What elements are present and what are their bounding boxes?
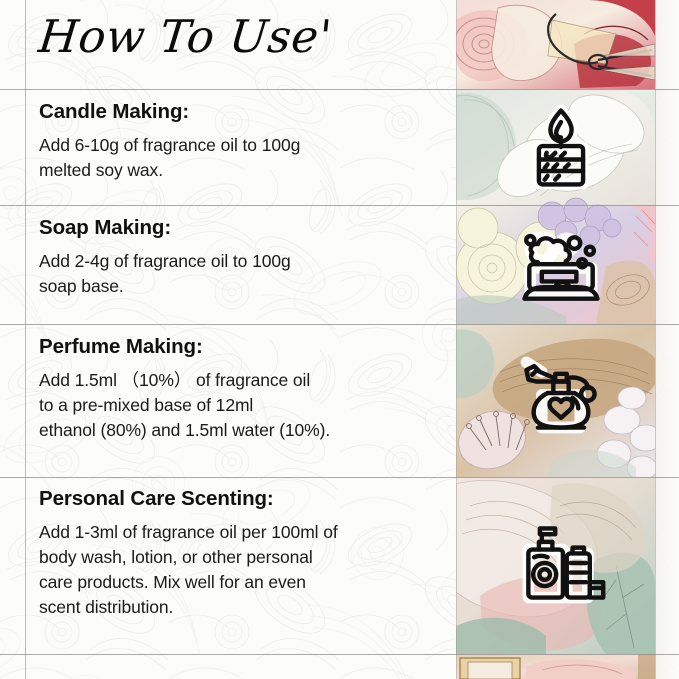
section-soap-making: Soap Making: Add 2-4g of fragrance oil t… [25, 216, 456, 299]
section-body-soap: Add 2-4g of fragrance oil to 100g soap b… [39, 249, 456, 299]
vertical-rule-right [655, 0, 656, 679]
perfume-bottle-icon [513, 345, 609, 441]
section-body-personal-care: Add 1-3ml of fragrance oil per 100ml of … [39, 520, 456, 619]
body-line: care products. Mix well for an even [39, 570, 456, 595]
section-candle-making: Candle Making: Add 6-10g of fragrance oi… [25, 100, 456, 183]
divider-rule-3 [0, 324, 679, 325]
title-band: How To Use' [25, 0, 456, 89]
section-personal-care-scenting: Personal Care Scenting: Add 1-3ml of fra… [25, 487, 456, 619]
divider-rule-2 [0, 205, 679, 206]
divider-rule-4 [0, 477, 679, 478]
section-heading-personal-care: Personal Care Scenting: [39, 487, 456, 511]
section-heading-soap: Soap Making: [39, 216, 456, 240]
vertical-rule-photo-edge [456, 0, 457, 679]
section-body-candle: Add 6-10g of fragrance oil to 100g melte… [39, 133, 456, 183]
body-line: Add 1.5ml （10%） of fragrance oil [39, 368, 456, 393]
divider-rule-1 [0, 89, 679, 90]
infographic-page: How To Use' Candle Making: Add 6-10g of … [0, 0, 679, 679]
section-heading-candle: Candle Making: [39, 100, 456, 124]
candle-icon [513, 99, 609, 195]
body-line: Add 1-3ml of fragrance oil per 100ml of [39, 520, 456, 545]
body-line: Add 6-10g of fragrance oil to 100g [39, 133, 456, 158]
photo-right-fade [655, 0, 679, 679]
body-line: scent distribution. [39, 595, 456, 620]
body-line: melted soy wax. [39, 158, 456, 183]
body-line: soap base. [39, 274, 456, 299]
cosmetic-products-icon [513, 515, 609, 611]
body-line: Add 2-4g of fragrance oil to 100g [39, 249, 456, 274]
divider-rule-5 [0, 654, 679, 655]
section-body-perfume: Add 1.5ml （10%） of fragrance oil to a pr… [39, 368, 456, 443]
body-line: body wash, lotion, or other personal [39, 545, 456, 570]
soap-bar-icon [513, 220, 609, 316]
body-line: to a pre-mixed base of 12ml [39, 393, 456, 418]
page-title: How To Use' [36, 10, 334, 63]
section-heading-perfume: Perfume Making: [39, 335, 456, 359]
section-perfume-making: Perfume Making: Add 1.5ml （10%） of fragr… [25, 335, 456, 443]
body-line: ethanol (80%) and 1.5ml water (10%). [39, 418, 456, 443]
